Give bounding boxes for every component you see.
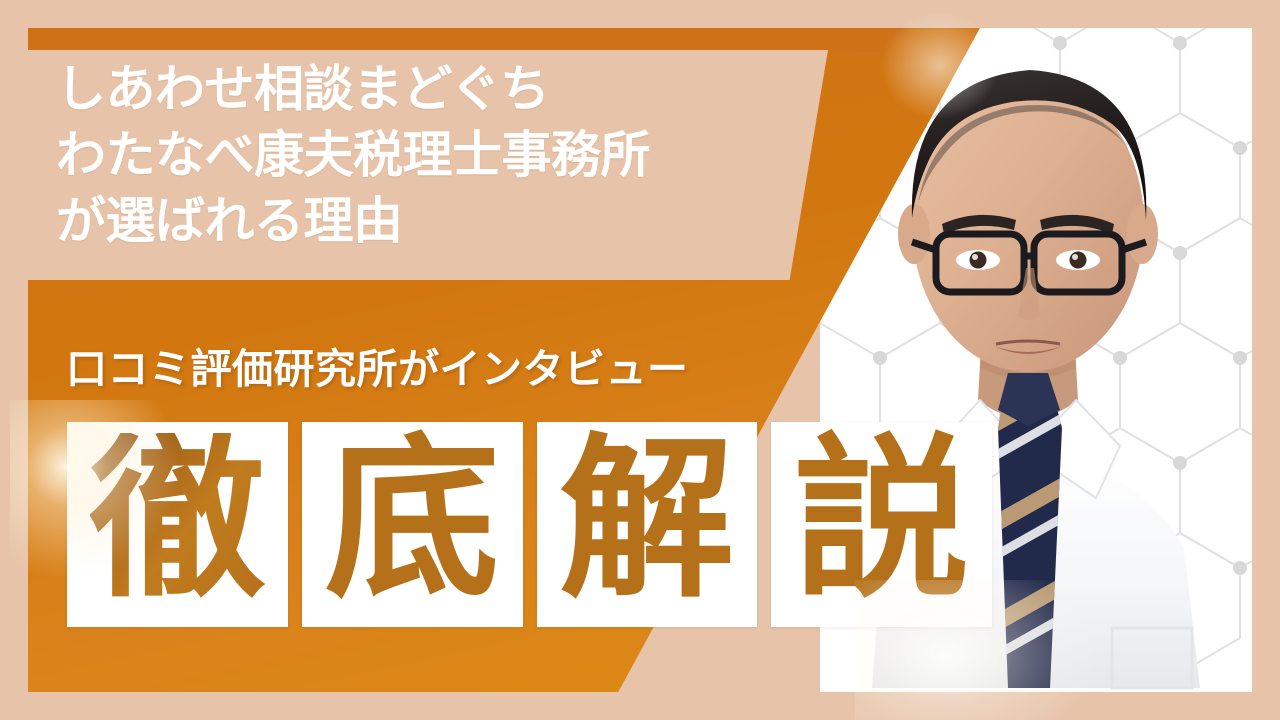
thumbnail-canvas: しあわせ相談まどぐち わたなべ康夫税理士事務所 が選ばれる理由 口コミ評価研究所… xyxy=(0,0,1280,720)
emphasis-tile: 徹 xyxy=(67,422,288,627)
orange-top-accent-bar xyxy=(28,28,908,52)
emphasis-char: 徹 xyxy=(90,433,265,608)
headline-title: しあわせ相談まどぐち わたなべ康夫税理士事務所 が選ばれる理由 xyxy=(56,56,836,254)
emphasis-tile-row: 徹 底 解 説 xyxy=(67,422,992,627)
emphasis-char: 解 xyxy=(559,433,734,608)
emphasis-tile: 説 xyxy=(771,422,992,627)
subtitle-text: 口コミ評価研究所がインタビュー xyxy=(66,335,689,395)
emphasis-char: 底 xyxy=(325,433,500,608)
emphasis-tile: 底 xyxy=(302,422,523,627)
emphasis-tile: 解 xyxy=(537,422,758,627)
emphasis-char: 説 xyxy=(794,433,969,608)
